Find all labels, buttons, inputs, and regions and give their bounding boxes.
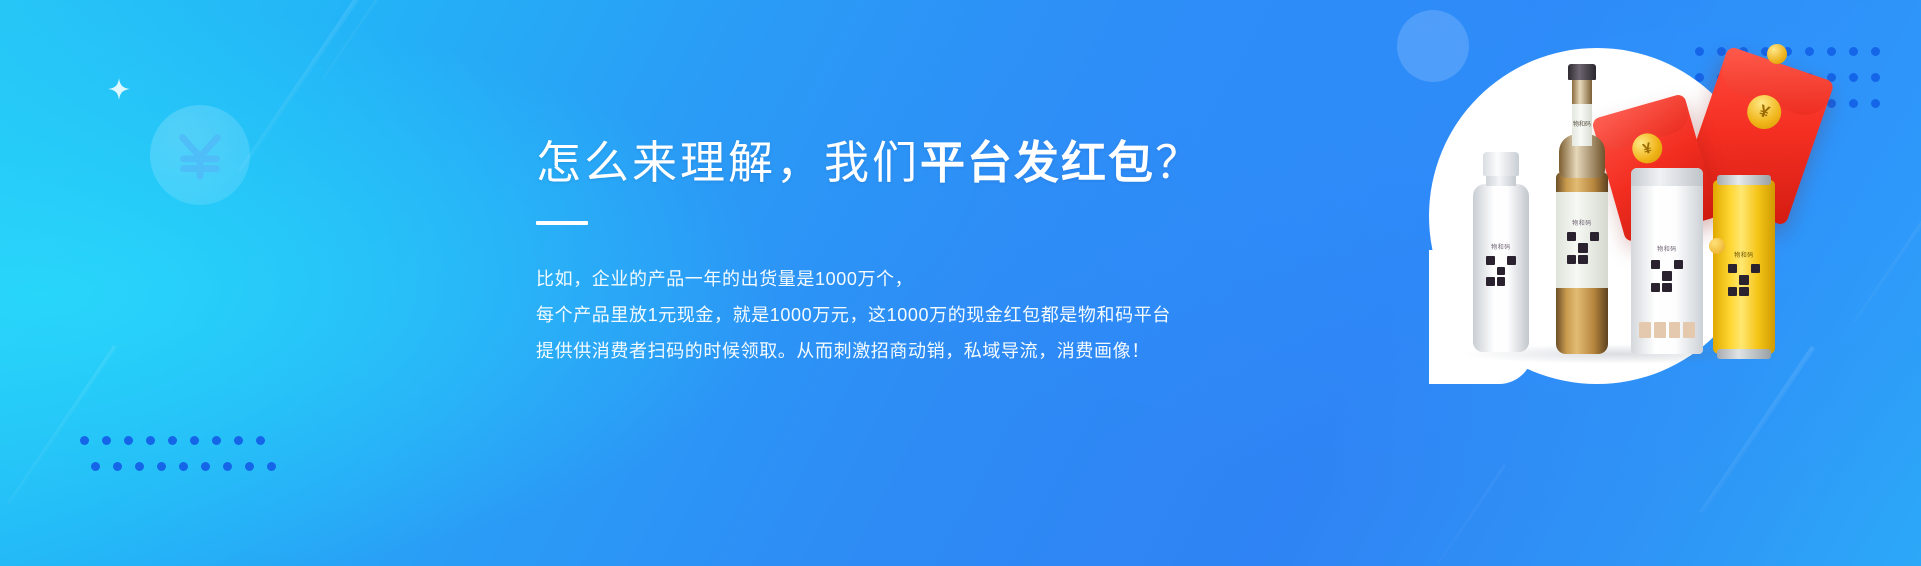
pouch-bottom-strip — [1639, 322, 1695, 338]
product-brand-label: 物和码 — [1631, 244, 1703, 253]
body-line-3: 提供供消费者扫码的时候领取。从而刺激招商动销，私域导流，消费画像！ — [536, 333, 1296, 369]
banner-body: 比如，企业的产品一年的出货量是1000万个， 每个产品里放1元现金，就是1000… — [536, 261, 1296, 369]
can-rim — [1717, 175, 1771, 185]
light-streak-decor — [322, 0, 464, 79]
light-streak-decor — [238, 0, 427, 173]
product-beer-bottle: 物和码 物和码 — [1551, 64, 1613, 354]
qr-code-icon — [1728, 264, 1760, 296]
bottle-cap — [1483, 152, 1519, 176]
banner-headline: 怎么来理解，我们平台发红包？ — [536, 136, 1296, 189]
qr-code-icon — [1486, 256, 1516, 286]
product-white-bottle: 物和码 — [1469, 152, 1533, 352]
pouch-top-seam — [1631, 168, 1703, 186]
can-base — [1717, 349, 1771, 359]
product-pouch: 物和码 — [1631, 168, 1703, 354]
product-brand-label: 物和码 — [1713, 250, 1775, 259]
light-streak-decor — [1437, 464, 1507, 565]
headline-emphasis: 平台发红包 — [920, 137, 1155, 188]
product-brand-label: 物和码 — [1551, 218, 1613, 227]
headline-prefix: 怎么来理解，我们 — [536, 137, 920, 188]
dot-grid-bottom-left — [80, 436, 278, 488]
yuan-medallion — [150, 105, 250, 205]
banner-copy: 怎么来理解，我们平台发红包？ 比如，企业的产品一年的出货量是1000万个， 每个… — [536, 136, 1296, 369]
headline-suffix: ？ — [1155, 137, 1203, 188]
light-streak-decor — [1853, 197, 1921, 324]
product-yellow-can: 物和码 — [1713, 180, 1775, 354]
promo-banner: 怎么来理解，我们平台发红包？ 比如，企业的产品一年的出货量是1000万个， 每个… — [0, 0, 1921, 566]
body-line-1: 比如，企业的产品一年的出货量是1000万个， — [536, 261, 1296, 297]
floating-gold-coin — [1767, 44, 1787, 64]
bottle-crown-cap — [1568, 64, 1596, 80]
product-scene: ¥ ¥ 物和码 物和码 物和码 — [1383, 20, 1803, 450]
product-brand-label: 物和码 — [1469, 242, 1533, 251]
halo-circle-decor — [1397, 10, 1469, 82]
yuan-icon — [169, 124, 231, 186]
product-neck-brand-label: 物和码 — [1551, 119, 1613, 128]
headline-divider — [536, 221, 588, 225]
body-line-2: 每个产品里放1元现金，就是1000万元，这1000万的现金红包都是物和码平台 — [536, 297, 1296, 333]
sparkle-icon — [108, 78, 130, 100]
qr-code-icon — [1651, 260, 1683, 292]
qr-code-icon — [1567, 232, 1599, 264]
